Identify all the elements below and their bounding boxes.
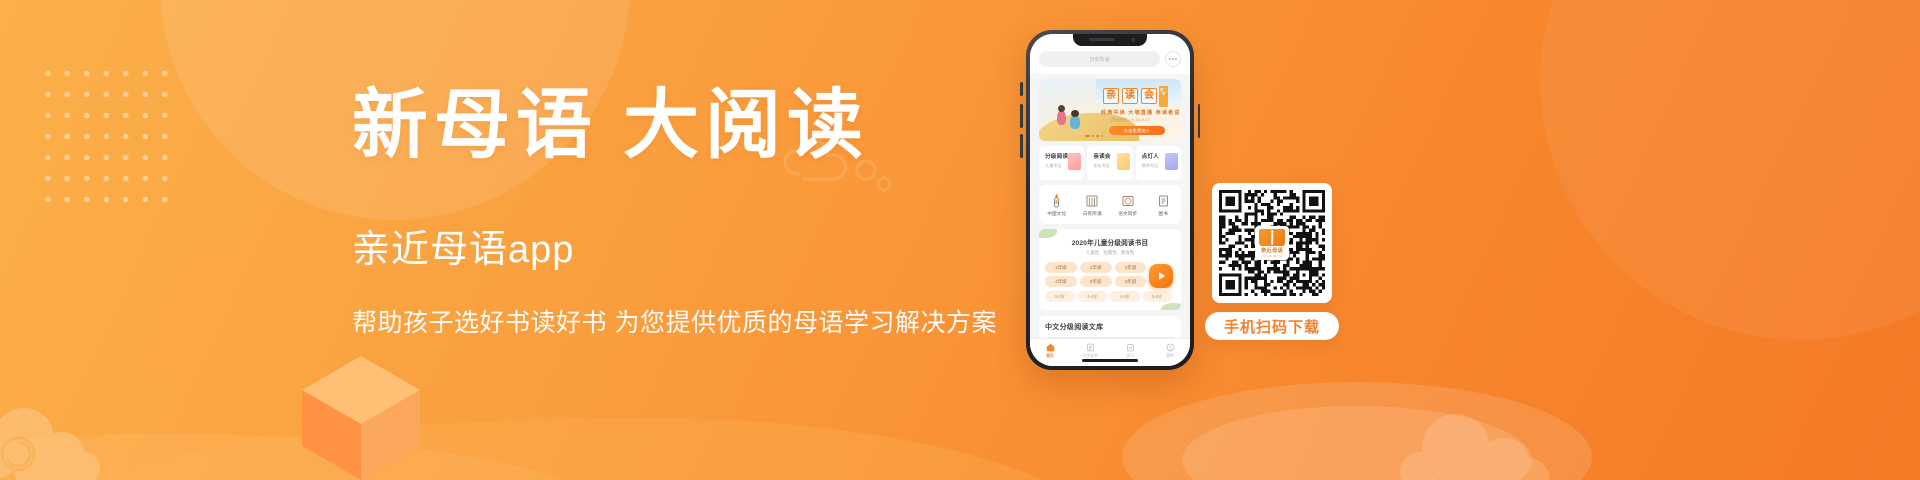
decorative-cube <box>300 354 422 480</box>
tab-profile[interactable]: 我的 <box>1150 342 1190 360</box>
promo-season-flag: 第二季 <box>1159 86 1168 107</box>
promo-banner: 新母语 大阅读 亲近母语app 帮助孩子选好书读好书 为您提供优质的母语学习解决… <box>0 0 1920 480</box>
cloud-icon-left <box>0 398 124 480</box>
grade-chip[interactable]: 6年级 <box>1115 276 1147 287</box>
booklist-subtitle: 儿童性、经典性、教育性 <box>1045 250 1175 256</box>
qr-code: 亲近母语 QIN JIN MU YU <box>1219 190 1325 296</box>
carousel-dots[interactable] <box>1085 135 1103 137</box>
promo-subtitle: 经典共读 大咖直播 亲读者说 <box>1101 109 1181 116</box>
quick-link-item[interactable]: 日有所诵 <box>1075 193 1111 217</box>
clipboard-check-icon <box>1110 342 1150 353</box>
hero-tagline: 帮助孩子选好书读好书 为您提供优质的母语学习解决方案 <box>352 303 1012 339</box>
tab-books[interactable]: 小步读书 <box>1070 342 1110 360</box>
hero-copy: 新母语 大阅读 亲近母语app 帮助孩子选好书读好书 为您提供优质的母语学习解决… <box>352 88 1012 339</box>
age-chip[interactable]: 3-4岁 <box>1078 291 1108 302</box>
decorative-hill-front <box>0 418 1100 480</box>
dot-grid-pattern <box>38 63 178 213</box>
brand-pinyin: QIN JIN MU YU <box>1262 255 1283 258</box>
search-input[interactable]: 日有所诵 <box>1039 51 1160 67</box>
phone-volume-down <box>1020 134 1023 158</box>
category-card[interactable]: 亲读会 家长专区 <box>1087 146 1132 180</box>
lamp-shape-icon <box>1165 153 1178 170</box>
tab-label: 首页 <box>1030 354 1070 359</box>
promo-title-char: 会 <box>1141 88 1157 104</box>
grade-chip[interactable]: 5年级 <box>1080 276 1112 287</box>
tab-label: 我的 <box>1150 354 1190 359</box>
grade-chip[interactable]: 4年级 <box>1045 276 1077 287</box>
quick-link-item[interactable]: 中国文化 <box>1039 193 1075 217</box>
promo-title: 亲 读 会 <box>1103 88 1157 104</box>
qr-code-card: 亲近母语 QIN JIN MU YU <box>1212 183 1332 303</box>
age-chip[interactable]: 5-6岁 <box>1143 291 1173 302</box>
quick-link-item[interactable]: 语文同步 <box>1110 193 1146 217</box>
tab-study[interactable]: 学习 <box>1110 342 1150 360</box>
book-logo-icon <box>1259 229 1285 246</box>
home-icon <box>1030 342 1070 353</box>
phone-notch <box>1073 34 1147 46</box>
age-chip[interactable]: 4-5岁 <box>1110 291 1140 302</box>
promo-card[interactable]: 亲 读 会 第二季 经典共读 大咖直播 亲读者说 活动时间：9.16-9.27 … <box>1039 79 1181 141</box>
book-icon <box>1070 342 1110 353</box>
illustration-child-2 <box>1070 115 1080 129</box>
booklist-title: 2020年儿童分级阅读书目 <box>1045 237 1175 247</box>
library-title: 中文分级阅读文库 <box>1045 322 1175 332</box>
phone-ground-shadow-inner <box>1182 406 1532 480</box>
circle-sync-icon <box>1110 193 1146 208</box>
quick-link-label: 中国文化 <box>1039 211 1075 217</box>
quick-link-label: 日有所诵 <box>1075 211 1111 217</box>
cloud-icon-bottom-right <box>1400 396 1590 480</box>
book-list-icon <box>1146 193 1182 208</box>
more-dots-icon[interactable] <box>1165 51 1181 67</box>
category-card[interactable]: 点灯人 教师专区 <box>1136 146 1181 180</box>
app-name: 亲近母语app <box>352 218 1012 273</box>
page-title: 新母语 大阅读 <box>352 88 1012 166</box>
phone-ground-shadow-outer <box>1122 382 1592 480</box>
quick-link-label: 图书 <box>1146 211 1182 217</box>
brand-logo: 亲近母语 QIN JIN MU YU <box>1255 226 1289 260</box>
category-card[interactable]: 分级阅读 儿童专区 <box>1039 146 1084 180</box>
phone-mute-switch <box>1020 82 1023 96</box>
age-chip-group: 0-3岁 3-4岁 4-5岁 5-6岁 <box>1045 291 1175 302</box>
phone-mockup: 日有所诵 亲 读 会 第二季 经典共读 大咖直播 亲读者说 活动时间：9 <box>1026 30 1194 370</box>
grade-chip-group: 1年级 2年级 3年级 4年级 5年级 6年级 <box>1045 262 1146 287</box>
home-indicator <box>1082 359 1138 362</box>
download-button[interactable]: 手机扫码下载 <box>1205 312 1339 340</box>
grade-chip[interactable]: 2年级 <box>1080 262 1112 273</box>
illustration-child-1 <box>1057 110 1066 125</box>
phone-power-button <box>1198 104 1201 138</box>
decorative-circle-right <box>1540 0 1920 340</box>
age-chip[interactable]: 0-3岁 <box>1045 291 1075 302</box>
category-cards: 分级阅读 儿童专区 亲读会 家长专区 点灯人 教师专区 <box>1039 146 1181 180</box>
book-shape-icon <box>1068 153 1081 170</box>
open-book-icon <box>1075 193 1111 208</box>
grade-chip[interactable]: 3年级 <box>1115 262 1147 273</box>
phone-screen: 日有所诵 亲 读 会 第二季 经典共读 大咖直播 亲读者说 活动时间：9 <box>1030 34 1190 366</box>
quick-links: 中国文化 日有所诵 <box>1039 185 1181 224</box>
quick-link-label: 语文同步 <box>1110 211 1146 217</box>
promo-title-char: 亲 <box>1103 88 1119 104</box>
leaf-decoration-bottom <box>1161 303 1181 310</box>
phone-volume-up <box>1020 104 1023 128</box>
app-screen: 日有所诵 亲 读 会 第二季 经典共读 大咖直播 亲读者说 活动时间：9 <box>1030 34 1190 366</box>
booklist-card: 2020年儿童分级阅读书目 儿童性、经典性、教育性 1年级 2年级 3年级 4年… <box>1039 229 1181 310</box>
tab-home[interactable]: 首页 <box>1030 342 1070 360</box>
grade-chip[interactable]: 1年级 <box>1045 262 1077 273</box>
book-shape-icon <box>1117 153 1130 170</box>
promo-title-char: 读 <box>1122 88 1138 104</box>
video-play-icon[interactable] <box>1149 264 1173 288</box>
promo-date: 活动时间：9.16-9.27 <box>1111 118 1150 123</box>
promo-cta-button[interactable]: 点击免费加入 <box>1109 126 1165 135</box>
quick-link-item[interactable]: 图书 <box>1146 193 1182 217</box>
user-circle-icon <box>1150 342 1190 353</box>
decorative-hill-back <box>0 434 620 480</box>
brush-icon <box>1039 193 1075 208</box>
brand-name: 亲近母语 <box>1261 247 1283 254</box>
